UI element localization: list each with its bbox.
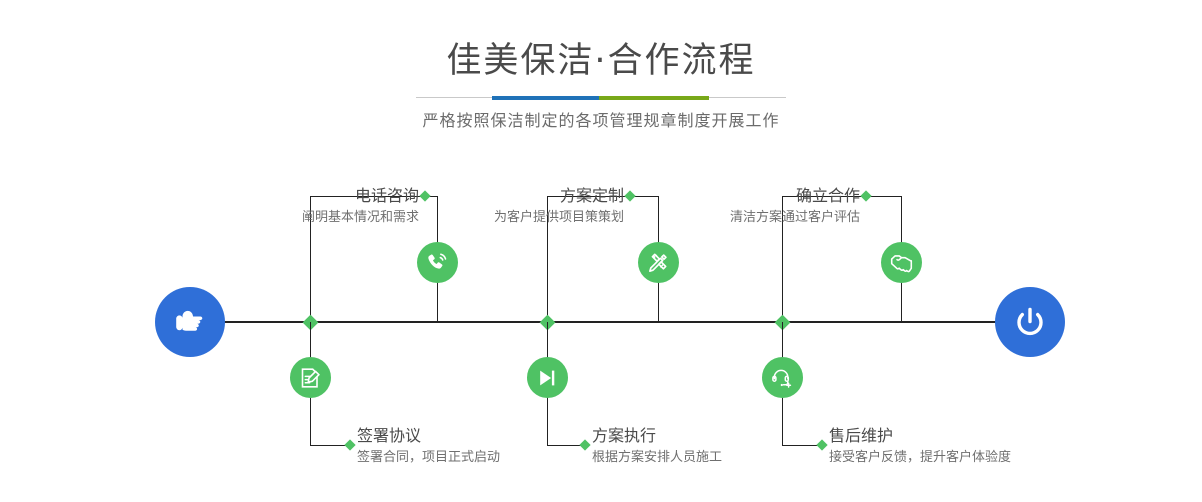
headset-support-icon xyxy=(770,366,794,390)
step-label-3: 方案定制 为客户提供项目策策划 xyxy=(420,186,624,228)
step-desc-6: 接受客户反馈，提升客户体验度 xyxy=(829,448,1011,468)
label-tip-6 xyxy=(816,439,827,450)
timeline-end-node xyxy=(995,287,1065,357)
pointing-hand-icon xyxy=(170,302,210,342)
step-label-1: 电话咨询 阐明基本情况和需求 xyxy=(205,186,419,228)
label-tip-2 xyxy=(344,439,355,450)
page-title: 佳美保洁·合作流程 xyxy=(0,0,1202,79)
step-desc-4: 根据方案安排人员施工 xyxy=(592,448,722,468)
step-title-3: 方案定制 xyxy=(420,186,624,206)
step-desc-5: 清洁方案通过客户评估 xyxy=(660,208,860,228)
divider-blue-segment xyxy=(492,96,599,100)
step-title-6: 售后维护 xyxy=(829,426,1011,446)
step-label-4: 方案执行 根据方案安排人员施工 xyxy=(592,426,722,468)
step-node-6[interactable] xyxy=(762,357,803,398)
step-label-5: 确立合作 清洁方案通过客户评估 xyxy=(660,186,860,228)
step-title-4: 方案执行 xyxy=(592,426,722,446)
timeline-start-node xyxy=(155,287,225,357)
step-node-2[interactable] xyxy=(290,357,331,398)
document-sign-icon xyxy=(298,366,322,390)
divider-green-segment xyxy=(599,96,709,100)
label-tip-3 xyxy=(624,190,635,201)
pencil-ruler-icon xyxy=(646,250,671,275)
step-title-2: 签署协议 xyxy=(357,426,500,446)
phone-call-icon xyxy=(425,250,450,275)
step-node-1[interactable] xyxy=(417,242,458,283)
play-next-icon xyxy=(535,366,559,390)
step-node-5[interactable] xyxy=(881,242,922,283)
label-tip-5 xyxy=(860,190,871,201)
step-title-1: 电话咨询 xyxy=(205,186,419,206)
infographic-canvas: 佳美保洁·合作流程 严格按照保洁制定的各项管理规章制度开展工作 xyxy=(0,0,1202,502)
step-node-3[interactable] xyxy=(638,242,679,283)
step-title-5: 确立合作 xyxy=(660,186,860,206)
step-desc-3: 为客户提供项目策策划 xyxy=(420,208,624,228)
step-label-2: 签署协议 签署合同，项目正式启动 xyxy=(357,426,500,468)
step-desc-2: 签署合同，项目正式启动 xyxy=(357,448,500,468)
page-subtitle: 严格按照保洁制定的各项管理规章制度开展工作 xyxy=(0,107,1202,131)
label-tip-4 xyxy=(579,439,590,450)
power-icon xyxy=(1010,302,1050,342)
header: 佳美保洁·合作流程 xyxy=(0,0,1202,79)
title-divider xyxy=(416,96,786,100)
step-node-4[interactable] xyxy=(527,357,568,398)
step-desc-1: 阐明基本情况和需求 xyxy=(205,208,419,228)
handshake-icon xyxy=(889,250,914,275)
step-label-6: 售后维护 接受客户反馈，提升客户体验度 xyxy=(829,426,1011,468)
